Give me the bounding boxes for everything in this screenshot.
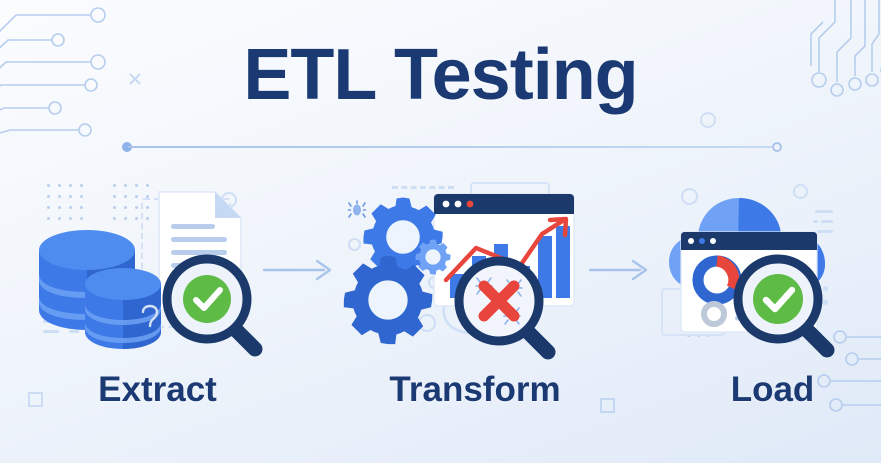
curve-decoration: [135, 300, 165, 334]
infographic-canvas: ETL Testing: [0, 0, 881, 463]
magnifier-check-icon: [163, 255, 273, 365]
divider-line: [128, 146, 772, 148]
stage-transform: Transform: [330, 180, 620, 430]
extract-illustration: [25, 180, 290, 360]
stage-label-load: Load: [665, 370, 880, 410]
stage-extract: Extract: [25, 180, 290, 430]
page-title: ETL Testing: [0, 34, 881, 116]
gear-icon: [340, 252, 436, 348]
divider: [122, 146, 778, 148]
stage-label-transform: Transform: [330, 370, 620, 410]
divider-dot-right: [772, 142, 782, 152]
transform-illustration: [330, 180, 620, 360]
magnifier-error-icon: [454, 256, 566, 368]
database-stack-icon: [33, 222, 163, 362]
magnifier-check-icon: [733, 254, 845, 366]
stage-label-extract: Extract: [25, 370, 290, 410]
load-illustration: [665, 180, 880, 360]
dashed-line-decoration: [392, 186, 454, 189]
stage-load: Load: [665, 180, 880, 430]
